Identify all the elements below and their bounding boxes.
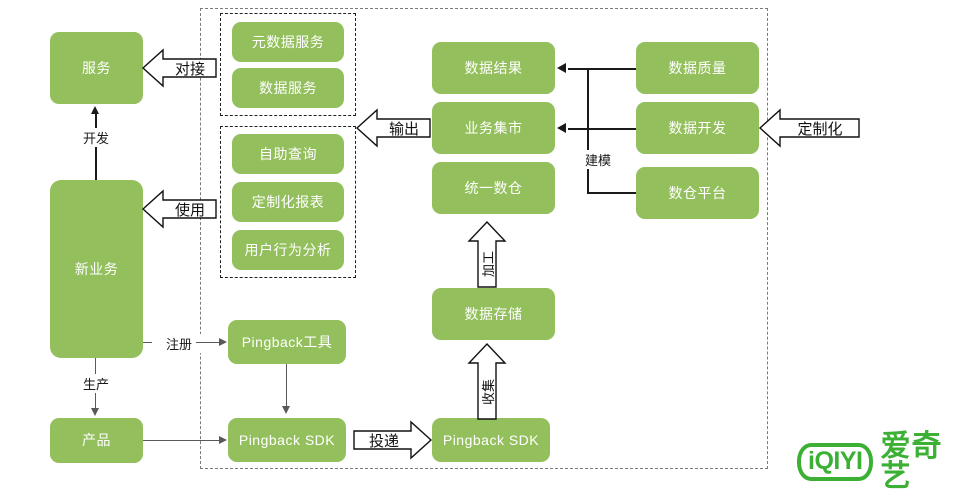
develop-arrowhead — [91, 106, 99, 114]
collection-block-arrow: 收集 — [466, 344, 508, 420]
register-label: 注册 — [152, 334, 206, 353]
node-unified-warehouse-label: 统一数仓 — [465, 180, 523, 197]
node-pingback-tool-label: Pingback工具 — [242, 334, 333, 351]
node-pingback-sdk-right-label: Pingback SDK — [443, 432, 539, 449]
register-arrowhead — [219, 338, 227, 346]
customization-arrow-label: 定制化 — [782, 117, 858, 139]
node-data-storage-label: 数据存储 — [465, 306, 523, 323]
node-warehouse-platform[interactable]: 数仓平台 — [636, 167, 759, 219]
modeling-arrowhead-result — [557, 63, 566, 73]
processing-block-arrow: 加工 — [466, 222, 508, 288]
modeling-arrowhead-mart — [557, 123, 566, 133]
node-business-mart[interactable]: 业务集市 — [432, 102, 555, 154]
usage-block-arrow: 使用 — [143, 189, 217, 229]
tool-to-sdk-arrowhead — [282, 406, 290, 414]
product-to-sdk-line — [143, 440, 220, 441]
output-block-arrow: 输出 — [357, 108, 431, 148]
modeling-spine-line — [587, 68, 589, 193]
customization-block-arrow: 定制化 — [760, 108, 860, 148]
node-data-development[interactable]: 数据开发 — [636, 102, 759, 154]
node-business-mart-label: 业务集市 — [465, 120, 523, 137]
node-custom-report[interactable]: 定制化报表 — [232, 182, 344, 222]
node-pingback-sdk-left[interactable]: Pingback SDK — [228, 418, 346, 462]
node-data-quality-label: 数据质量 — [669, 60, 727, 77]
usage-arrow-label: 使用 — [165, 198, 215, 220]
tool-to-sdk-line — [286, 364, 287, 408]
node-new-business-label: 新业务 — [75, 261, 119, 278]
node-data-result[interactable]: 数据结果 — [432, 42, 555, 94]
iqiyi-logo-mark: iQIYI — [797, 443, 873, 481]
output-arrow-label: 输出 — [379, 117, 429, 139]
node-data-service[interactable]: 数据服务 — [232, 68, 344, 108]
collection-arrow-label: 收集 — [477, 370, 497, 414]
iqiyi-logo: iQIYI 爱奇艺 — [797, 432, 965, 492]
node-custom-report-label: 定制化报表 — [252, 194, 325, 211]
modeling-leg-platform — [587, 192, 636, 194]
delivery-arrow-label: 投递 — [359, 429, 409, 451]
node-self-query[interactable]: 自助查询 — [232, 134, 344, 174]
node-data-storage[interactable]: 数据存储 — [432, 288, 555, 340]
node-new-business[interactable]: 新业务 — [50, 180, 143, 358]
node-data-development-label: 数据开发 — [669, 120, 727, 137]
node-metadata-service[interactable]: 元数据服务 — [232, 22, 344, 62]
node-data-quality[interactable]: 数据质量 — [636, 42, 759, 94]
product-to-sdk-arrowhead — [219, 436, 227, 444]
node-pingback-sdk-right[interactable]: Pingback SDK — [432, 418, 550, 462]
node-user-behavior-label: 用户行为分析 — [245, 242, 332, 259]
node-data-service-label: 数据服务 — [259, 80, 317, 97]
node-metadata-service-label: 元数据服务 — [252, 34, 325, 51]
node-warehouse-platform-label: 数仓平台 — [669, 185, 727, 202]
docking-arrow-label: 对接 — [165, 57, 215, 79]
node-service[interactable]: 服务 — [50, 32, 143, 104]
produce-label: 生产 — [69, 374, 123, 393]
modeling-leg-development — [568, 128, 636, 130]
register-connector-line-2 — [196, 342, 220, 343]
node-user-behavior[interactable]: 用户行为分析 — [232, 230, 344, 270]
node-data-result-label: 数据结果 — [465, 60, 523, 77]
node-pingback-tool[interactable]: Pingback工具 — [228, 320, 346, 364]
node-product[interactable]: 产品 — [50, 418, 143, 463]
diagram-canvas: 服务 新业务 产品 开发 生产 元数据服务 数据服务 自助查询 定制化报表 用户… — [0, 0, 965, 499]
develop-label: 开发 — [69, 128, 123, 147]
processing-arrow-label: 加工 — [477, 242, 497, 286]
node-unified-warehouse[interactable]: 统一数仓 — [432, 162, 555, 214]
node-self-query-label: 自助查询 — [259, 146, 317, 163]
docking-block-arrow: 对接 — [143, 48, 217, 88]
modeling-label: 建模 — [571, 150, 625, 169]
node-pingback-sdk-left-label: Pingback SDK — [239, 432, 335, 449]
develop-connector-line — [95, 114, 97, 180]
produce-arrowhead — [91, 408, 99, 416]
delivery-block-arrow: 投递 — [353, 420, 431, 460]
modeling-leg-quality — [568, 68, 636, 70]
node-service-label: 服务 — [82, 60, 111, 77]
iqiyi-logo-name: 爱奇艺 — [880, 432, 965, 492]
node-product-label: 产品 — [82, 432, 111, 449]
